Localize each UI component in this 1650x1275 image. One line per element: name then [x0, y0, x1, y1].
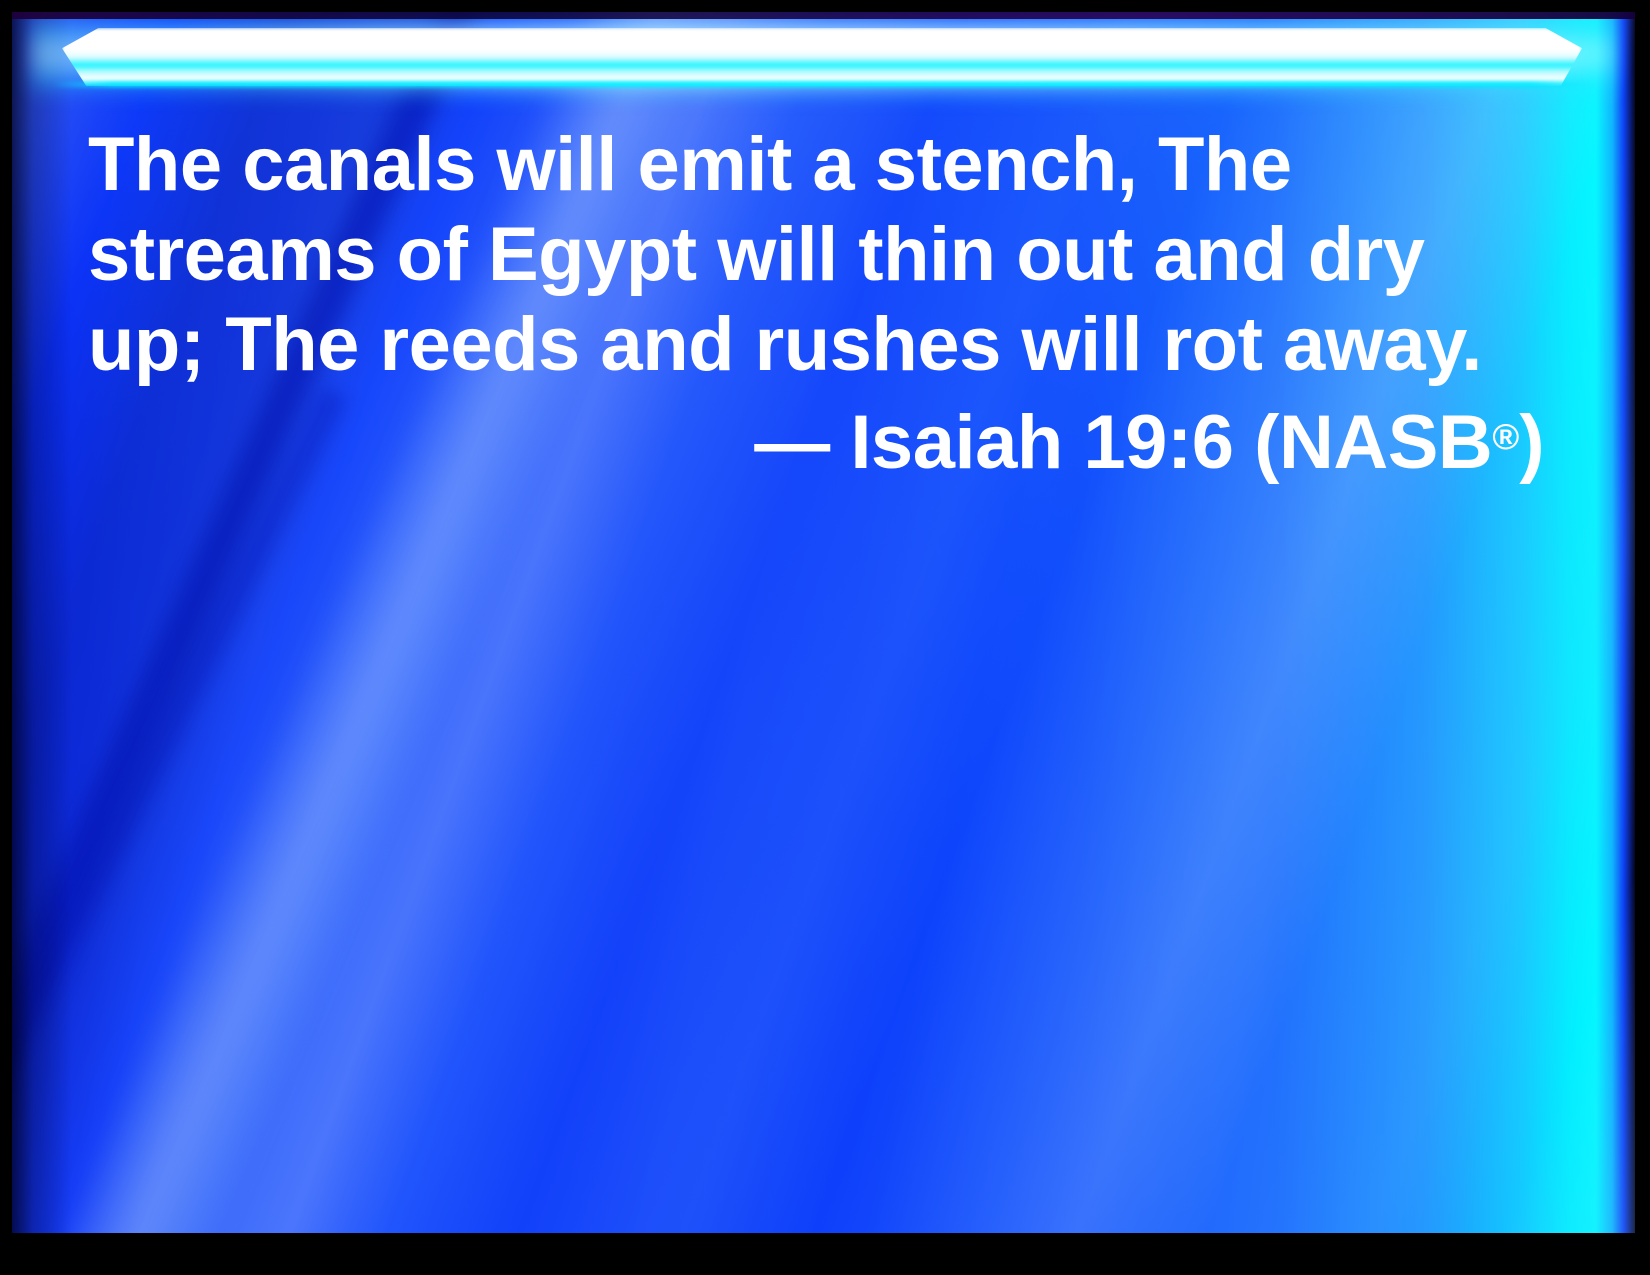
reference-translation-close: ) [1519, 400, 1544, 485]
reference-dash: — [754, 400, 830, 485]
reference-book: Isaiah [850, 400, 1062, 485]
registered-trademark-icon: ® [1492, 416, 1519, 457]
top-glow-bar [12, 12, 1635, 96]
background-left-vignette [12, 12, 72, 1233]
glow-bar-body [62, 28, 1582, 86]
reference-translation-open: (NASB [1254, 400, 1492, 485]
reference-chapter-verse: 19:6 [1083, 400, 1233, 485]
verse-block: The canals will emit a stench, The strea… [88, 120, 1558, 488]
scripture-slide: The canals will emit a stench, The strea… [0, 0, 1650, 1275]
verse-reference: — Isaiah 19:6 (NASB®) [88, 392, 1558, 488]
glow-bar-cyan-line [52, 82, 1592, 87]
slide-canvas: The canals will emit a stench, The strea… [12, 12, 1635, 1233]
top-edge-hairline [12, 12, 1635, 19]
verse-text: The canals will emit a stench, The strea… [88, 120, 1558, 390]
